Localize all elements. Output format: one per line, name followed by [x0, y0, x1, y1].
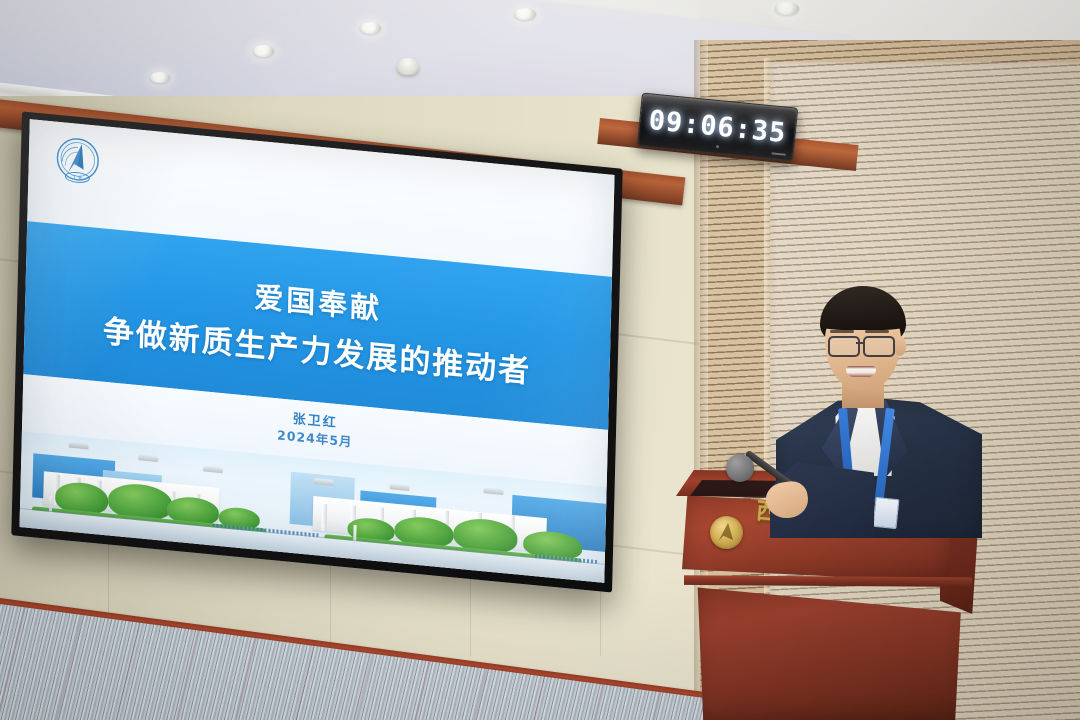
- screen-surface: 工大 爱国奉献 争做新质生产力发展的推动者 张卫红 2024年5月: [19, 119, 614, 583]
- campus-lamp-icon: [483, 487, 503, 495]
- eyebrow-right: [865, 330, 889, 333]
- campus-flagpole: [49, 496, 52, 512]
- conference-hall-scene: 88:88:88 09:06:35 工大: [0, 0, 1080, 720]
- university-crest-icon: 工大: [47, 129, 108, 195]
- eyeglasses-lens-left: [828, 336, 860, 357]
- slide-presentation-date: 2024年5月: [277, 427, 353, 450]
- lectern-base: [692, 582, 972, 720]
- smoke-detector-icon: [397, 58, 419, 75]
- downlight-icon: [150, 72, 170, 83]
- id-badge: [872, 497, 899, 529]
- campus-lamp-icon: [390, 484, 410, 492]
- svg-text:工大: 工大: [72, 173, 84, 182]
- eyeglasses-bridge: [856, 342, 864, 344]
- presentation-slide: 工大 爱国奉献 争做新质生产力发展的推动者 张卫红 2024年5月: [19, 119, 614, 583]
- clock-brand-mark: [772, 152, 786, 155]
- downlight-icon: [253, 45, 274, 57]
- mouth: [846, 366, 876, 377]
- eyebrow-left: [830, 330, 854, 333]
- microphone-icon: [726, 454, 754, 482]
- campus-lamp-icon: [68, 441, 88, 449]
- campus-flagpole: [353, 525, 356, 541]
- presenter-figure: [770, 286, 1000, 536]
- campus-lamp-icon: [203, 466, 223, 474]
- clock-indicator-dot: [715, 145, 718, 148]
- campus-lamp-icon: [138, 454, 158, 462]
- eyeglasses-lens-right: [863, 336, 895, 357]
- downlight-icon: [514, 8, 536, 20]
- downlight-icon: [360, 22, 381, 34]
- slide-title-line1: 爱国奉献: [254, 274, 383, 328]
- led-display-screen: 工大 爱国奉献 争做新质生产力发展的推动者 张卫红 2024年5月: [11, 111, 622, 592]
- ear: [894, 336, 906, 356]
- downlight-icon: [775, 2, 799, 15]
